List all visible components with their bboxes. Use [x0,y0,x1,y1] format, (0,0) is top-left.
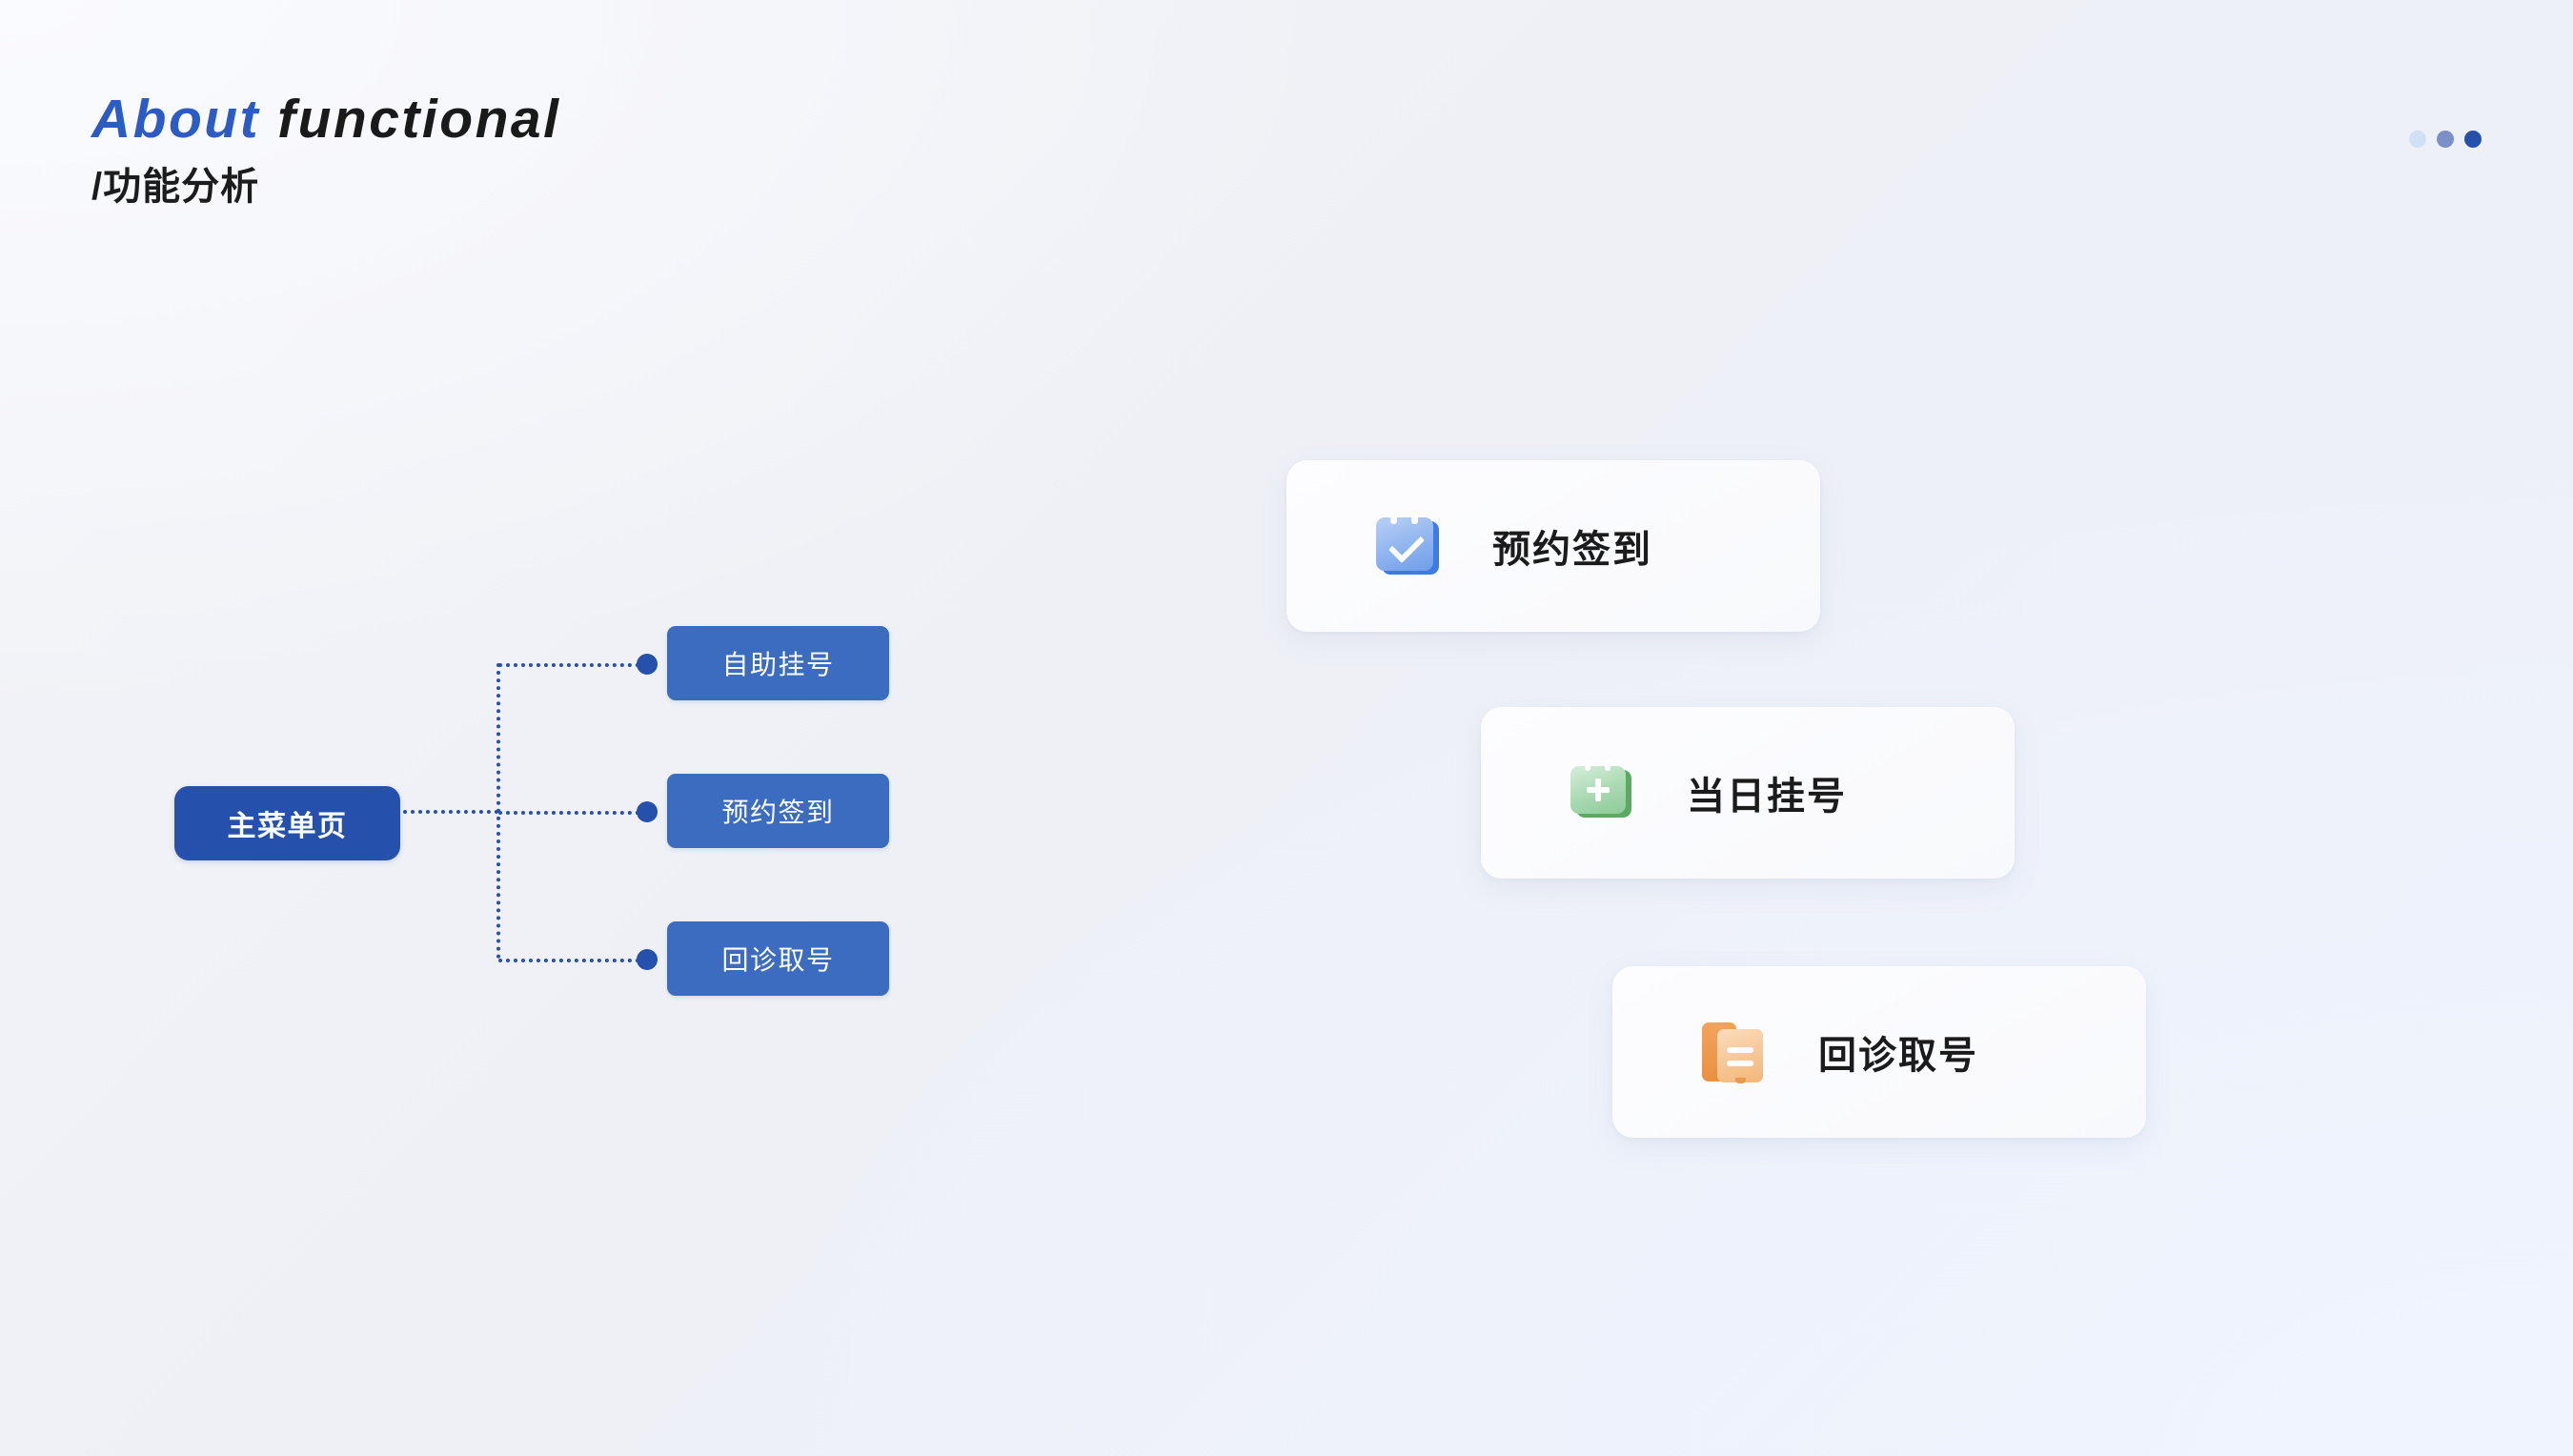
flow-diagram: 主菜单页 自助挂号 预约签到 回诊取号 [172,600,924,1029]
document-icon [1700,1018,1769,1086]
connector-endpoint-1 [637,801,658,822]
feature-card-label: 回诊取号 [1818,1024,1978,1080]
calendar-check-icon [1374,512,1443,580]
dot-dark-icon [2464,131,2482,148]
title-english-rest: functional [277,89,560,150]
flow-node-label: 预约签到 [721,792,834,830]
document-icon-bookmark [1735,1078,1746,1083]
connector-root-stem [403,810,498,814]
connector-endpoint-0 [637,654,658,675]
document-icon-sheet [1717,1029,1763,1082]
feature-card-label: 预约签到 [1492,518,1652,574]
page-title: Aboutfunctional /功能分析 [91,91,560,210]
title-chinese: /功能分析 [91,164,560,210]
flow-root-label: 主菜单页 [228,802,348,844]
dot-light-icon [2409,131,2426,148]
title-english: Aboutfunctional [91,91,560,149]
flow-node-label: 自助挂号 [721,644,834,682]
flow-node-label: 回诊取号 [721,940,834,978]
flow-node-appointment-checkin[interactable]: 预约签到 [667,774,889,848]
connector-branch-1 [498,811,647,815]
flow-root-node[interactable]: 主菜单页 [174,786,400,860]
calendar-plus-icon-ring-right [1605,759,1611,771]
feature-card-followup-ticket[interactable]: 回诊取号 [1612,966,2146,1138]
feature-card-label: 当日挂号 [1687,765,1847,820]
calendar-plus-icon-ring-left [1585,759,1590,771]
calendar-plus-icon-plus-vertical [1595,779,1601,801]
slide-canvas: Aboutfunctional /功能分析 主菜单页 自助挂号 预约签到 回诊 [0,0,2573,1456]
title-english-highlight: About [91,89,260,150]
decorative-dots [2409,131,2482,148]
feature-card-appointment-checkin[interactable]: 预约签到 [1286,460,1820,632]
flow-node-followup-ticket[interactable]: 回诊取号 [667,921,889,996]
connector-branch-0 [498,663,647,667]
calendar-plus-icon [1569,758,1637,827]
calendar-check-icon-ring-left [1390,512,1397,524]
connector-endpoint-2 [637,949,658,970]
dot-medium-icon [2437,131,2454,148]
feature-card-same-day-register[interactable]: 当日挂号 [1481,707,2015,879]
calendar-check-icon-ring-right [1411,512,1418,524]
connector-branch-2 [498,959,647,962]
flow-node-self-register[interactable]: 自助挂号 [667,626,889,700]
document-icon-line-2 [1727,1061,1753,1066]
document-icon-line-1 [1727,1047,1753,1053]
